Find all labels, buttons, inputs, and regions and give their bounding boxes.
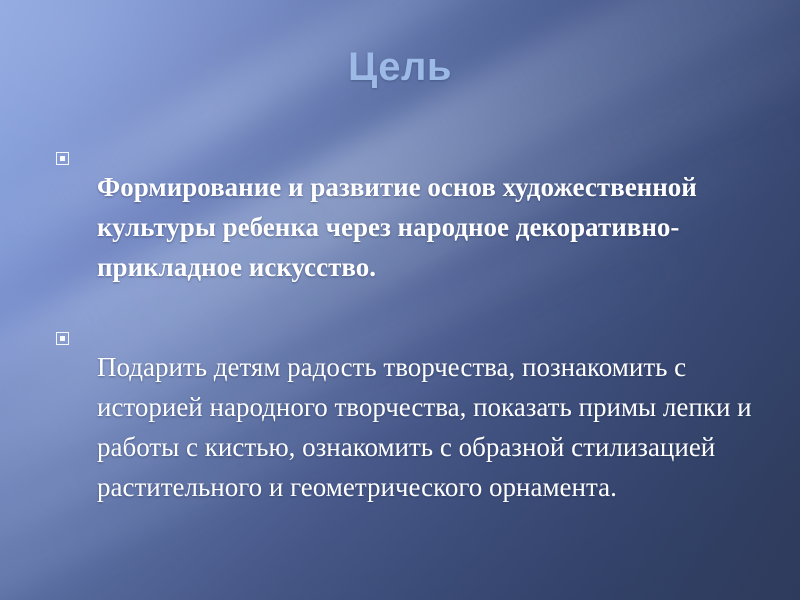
square-bullet-icon [56, 152, 69, 165]
presentation-slide: Цель Формирование и развитие основ худож… [0, 0, 800, 600]
list-item: Формирование и развитие основ художестве… [56, 140, 756, 314]
square-bullet-icon [56, 332, 69, 345]
slide-body-content: Формирование и развитие основ художестве… [56, 140, 756, 540]
page-title: Цель [348, 44, 452, 90]
list-item: Подарить детям радость творчества, позна… [56, 320, 756, 534]
slide-title-area: Цель [0, 44, 800, 90]
bullet-text: Подарить детям радость творчества, позна… [97, 347, 756, 507]
bullet-text: Формирование и развитие основ художестве… [97, 167, 756, 287]
